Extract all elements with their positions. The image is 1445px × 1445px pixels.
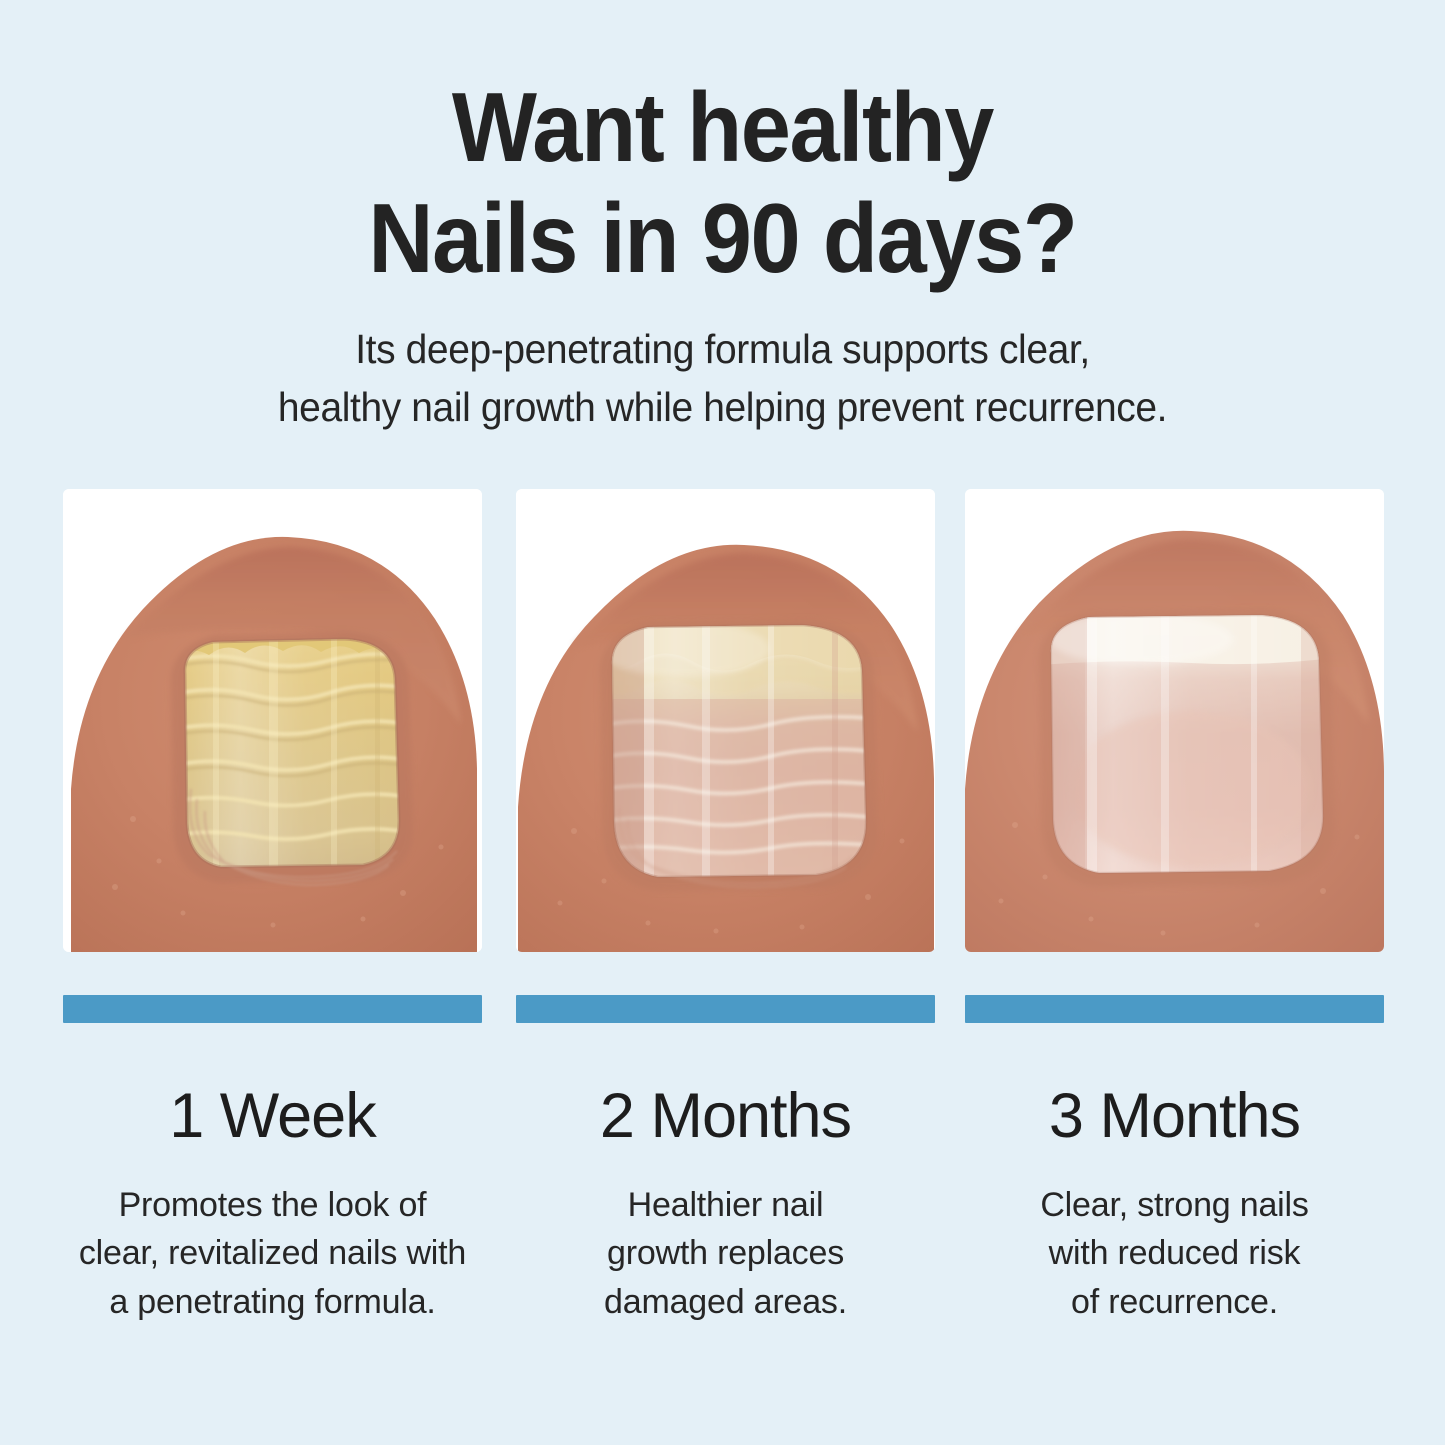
nail-image-card-1	[63, 489, 482, 952]
step-desc-2-line-3: damaged areas.	[516, 1278, 935, 1326]
step-desc-1-line-1: Promotes the look of	[63, 1181, 482, 1229]
step-desc-1-line-3: a penetrating formula.	[63, 1278, 482, 1326]
step-description-2: Healthier nail growth replaces damaged a…	[516, 1181, 935, 1326]
step-title-2: 2 Months	[516, 1085, 935, 1148]
page-title: Want healthy Nails in 90 days?	[58, 72, 1387, 293]
step-desc-3-line-2: with reduced risk	[965, 1229, 1384, 1277]
nail-image-card-3	[965, 489, 1384, 952]
progression-step-2: 2 Months Healthier nail growth replaces …	[516, 489, 935, 1326]
subtitle-line-2: healthy nail growth while helping preven…	[36, 378, 1409, 436]
step-divider-bar-3	[965, 995, 1384, 1023]
step-title-1: 1 Week	[63, 1085, 482, 1148]
subtitle: Its deep-penetrating formula supports cl…	[36, 320, 1409, 436]
headline-line-2: Nails in 90 days?	[58, 183, 1387, 294]
headline-line-1: Want healthy	[452, 72, 993, 182]
step-divider-bar-1	[63, 995, 482, 1023]
step-desc-2-line-1: Healthier nail	[516, 1181, 935, 1229]
step-divider-bar-2	[516, 995, 935, 1023]
step-desc-3-line-3: of recurrence.	[965, 1278, 1384, 1326]
step-desc-3-line-1: Clear, strong nails	[965, 1181, 1384, 1229]
fungal-nail-yellow-thickened-icon	[63, 489, 482, 952]
nail-image-card-2	[516, 489, 935, 952]
subtitle-line-1: Its deep-penetrating formula supports cl…	[36, 320, 1409, 378]
step-desc-2-line-2: growth replaces	[516, 1229, 935, 1277]
nail-partially-cleared-icon	[516, 489, 935, 952]
progression-step-3: 3 Months Clear, strong nails with reduce…	[965, 489, 1384, 1326]
step-desc-1-line-2: clear, revitalized nails with	[63, 1229, 482, 1277]
infographic-page: Want healthy Nails in 90 days? Its deep-…	[0, 0, 1445, 1445]
progression-step-1: 1 Week Promotes the look of clear, revit…	[63, 489, 482, 1326]
step-description-3: Clear, strong nails with reduced risk of…	[965, 1181, 1384, 1326]
step-title-3: 3 Months	[965, 1085, 1384, 1148]
step-description-1: Promotes the look of clear, revitalized …	[63, 1181, 482, 1326]
nail-clear-healthy-icon	[965, 489, 1384, 952]
